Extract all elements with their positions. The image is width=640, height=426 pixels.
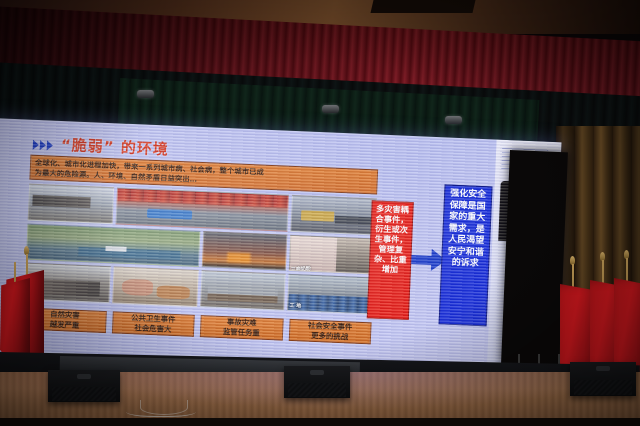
label-line-2: 更多的挑战 xyxy=(311,331,348,342)
red-callout-box: 多灾害耦合事件，衍生或次生事件，管理复杂、比重增加 xyxy=(367,200,414,320)
ceiling-spotlight-icon xyxy=(137,90,154,98)
label-line-2: 监管任务重 xyxy=(223,327,260,338)
floor-monitor-speaker xyxy=(284,366,350,398)
photo-cell xyxy=(201,231,287,271)
stage-floor-light xyxy=(270,346,285,372)
ceiling-vent xyxy=(370,0,475,13)
label-line-2: 越发严重 xyxy=(49,320,79,331)
photo-cell xyxy=(112,267,198,307)
floor-monitor-speaker xyxy=(48,370,120,402)
category-label-row: 自然灾害 越发严重 公共卫生事件 社会危害大 事故灾难 监管任务重 社会安全事件… xyxy=(23,308,372,345)
photo-cell xyxy=(291,195,377,235)
stage-floor-light xyxy=(192,343,207,369)
floor-monitor-speaker xyxy=(570,362,636,396)
category-label: 事故灾难 监管任务重 xyxy=(200,315,283,341)
stage-floor-light xyxy=(348,348,363,374)
flag-right-3 xyxy=(614,250,640,378)
photo-cell xyxy=(26,223,200,267)
red-callout-text: 多灾害耦合事件，衍生或次生事件，管理复杂、比重增加 xyxy=(371,203,412,275)
auditorium-scene: “脆弱” 的环境 全球化、城市化进程加快，带来一系列城市病、社会病，整个城市已成… xyxy=(0,0,640,426)
photo-cell xyxy=(28,184,114,224)
category-label: 公共卫生事件 社会危害大 xyxy=(111,311,194,337)
stage-floor-light xyxy=(83,338,98,364)
blue-callout-box: 强化安全保障是国家的重大需求，是人民渴望安宁和谐的诉求 xyxy=(439,184,493,326)
ceiling-spotlight-icon xyxy=(445,116,462,124)
photo-cell: 战胜非典 xyxy=(115,187,289,231)
photo-cell: 工 地 xyxy=(287,274,373,314)
photo-cell: 三鹿奶粉 xyxy=(289,235,375,275)
stage-cable xyxy=(140,400,188,415)
label-line-2: 社会危害大 xyxy=(134,323,171,334)
ceiling-spotlight-icon xyxy=(322,105,339,113)
photo-cell xyxy=(200,270,286,310)
stage-floor-edge xyxy=(0,418,640,426)
stage-floor-light xyxy=(116,340,131,366)
category-label: 社会安全事件 更多的挑战 xyxy=(288,319,371,345)
blue-callout-text: 强化安全保障是国家的重大需求，是人民渴望安宁和谐的诉求 xyxy=(444,189,489,271)
photo-grid: 战胜非典 三鹿奶粉 xyxy=(24,184,377,315)
triple-chevron-icon xyxy=(33,140,53,151)
